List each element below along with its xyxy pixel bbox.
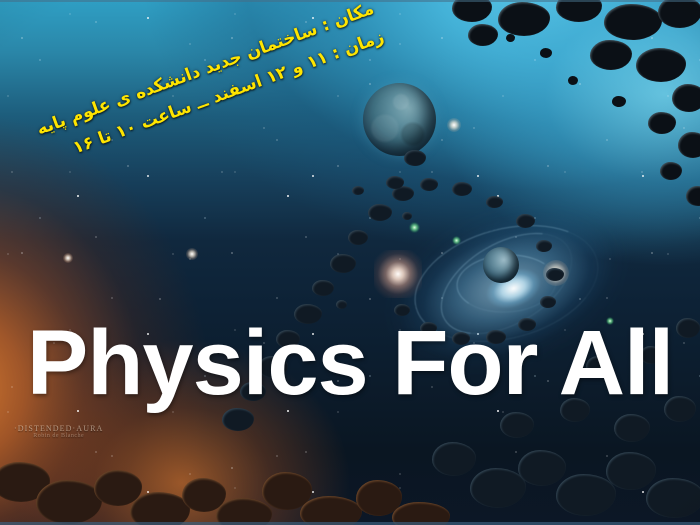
vignette-overlay	[0, 0, 700, 525]
watermark-author: Robin de Blanche	[14, 433, 103, 439]
slide-title: Physics For All	[0, 318, 700, 408]
artwork-watermark: ·DISTENDED·AURA Robin de Blanche	[14, 424, 103, 439]
presentation-slide: مکان : ساختمان جدید دانشکده ی علوم پایه …	[0, 0, 700, 525]
watermark-title: ·DISTENDED·AURA	[14, 424, 103, 433]
